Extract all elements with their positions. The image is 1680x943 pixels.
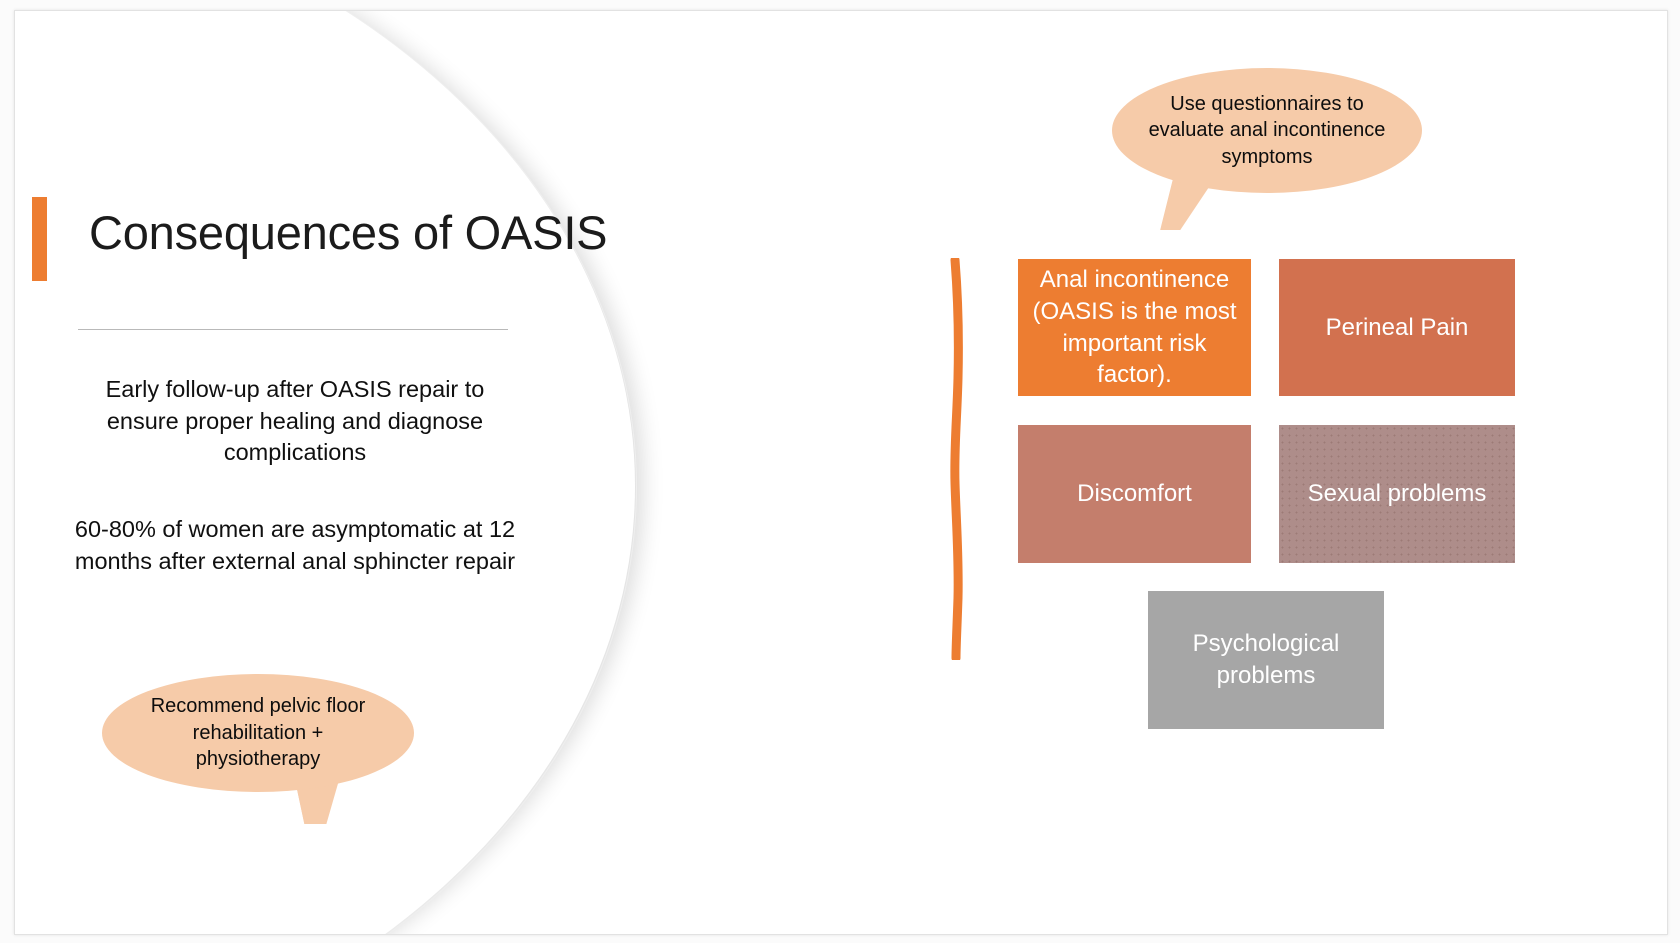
consequence-box-sexual-problems: Sexual problems [1279, 425, 1515, 563]
callout-questionnaires: Use questionnaires to evaluate anal inco… [1112, 68, 1422, 193]
consequence-box-psychological-problems: Psychological problems [1148, 591, 1384, 729]
consequence-label: Sexual problems [1308, 478, 1487, 510]
callout-rehabilitation-text: Recommend pelvic floor rehabilitation + … [102, 674, 414, 792]
slide-root: Consequences of OASIS Early follow-up af… [0, 0, 1680, 943]
slide-canvas: Consequences of OASIS Early follow-up af… [14, 10, 1668, 935]
consequence-label: Psychological problems [1162, 628, 1370, 691]
callout-questionnaires-text: Use questionnaires to evaluate anal inco… [1112, 68, 1422, 193]
body-paragraph-2: 60-80% of women are asymptomatic at 12 m… [70, 514, 520, 577]
callout-rehabilitation: Recommend pelvic floor rehabilitation + … [102, 674, 414, 792]
title-divider [78, 329, 508, 330]
page-title: Consequences of OASIS [89, 205, 649, 260]
body-paragraph-1: Early follow-up after OASIS repair to en… [70, 374, 520, 469]
title-accent-bar [32, 197, 47, 281]
consequence-label: Discomfort [1077, 478, 1192, 510]
vertical-brush-stroke-icon [945, 258, 967, 660]
consequence-box-anal-incontinence: Anal incontinence (OASIS is the most imp… [1018, 259, 1251, 396]
consequence-label: Perineal Pain [1326, 312, 1469, 344]
consequence-box-discomfort: Discomfort [1018, 425, 1251, 563]
consequence-box-perineal-pain: Perineal Pain [1279, 259, 1515, 396]
consequence-label: Anal incontinence (OASIS is the most imp… [1032, 264, 1237, 391]
